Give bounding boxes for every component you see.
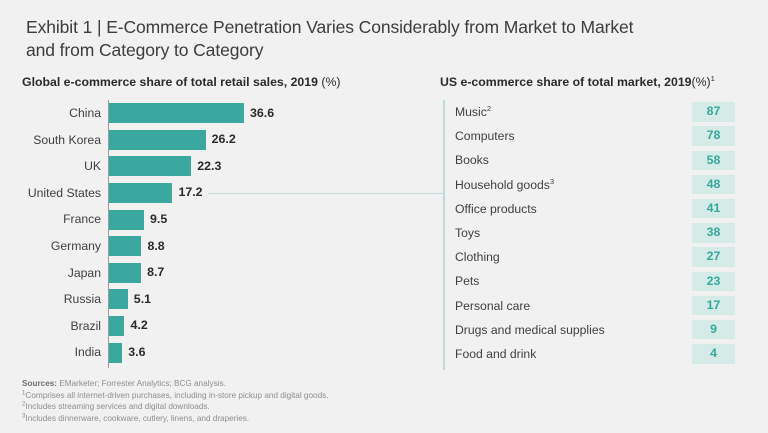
right-panel-subtitle-text: US e-commerce share of total market, 201…	[440, 75, 692, 89]
footnote-2-text: Includes streaming services and digital …	[25, 402, 209, 411]
us-category-share-list: Music287Computers78Books58Household good…	[444, 100, 744, 370]
bar-value-label: 8.8	[147, 236, 164, 257]
list-item: Drugs and medical supplies9	[444, 318, 744, 342]
bar-track	[109, 103, 244, 123]
bar-category-label: UK	[22, 153, 101, 180]
bar-category-label: South Korea	[22, 127, 101, 154]
exhibit-title: Exhibit 1 | E-Commerce Penetration Varie…	[26, 16, 738, 62]
right-panel-subtitle: US e-commerce share of total market, 201…	[440, 75, 715, 89]
left-panel-subtitle-text: Global e-commerce share of total retail …	[22, 75, 318, 89]
bar-fill	[109, 343, 122, 363]
bar-category-label: Germany	[22, 233, 101, 260]
list-item: Household goods348	[444, 173, 744, 197]
bar-value-label: 26.2	[212, 129, 236, 150]
category-label: Personal care	[455, 294, 530, 318]
category-label: Household goods3	[455, 173, 554, 197]
category-label: Drugs and medical supplies	[455, 318, 605, 342]
footnote-3-text: Includes dinnerware, cookware, cutlery, …	[25, 414, 249, 423]
footnote-3: 3Includes dinnerware, cookware, cutlery,…	[22, 413, 722, 425]
bar-category-label: United States	[22, 180, 101, 207]
list-item: Personal care17	[444, 294, 744, 318]
page-title-line-2: and from Category to Category	[26, 39, 738, 62]
category-label: Books	[455, 148, 489, 172]
category-label: Computers	[455, 124, 515, 148]
category-label: Office products	[455, 197, 537, 221]
bar-fill	[109, 210, 144, 230]
category-value-badge: 48	[692, 175, 735, 195]
footnote-sources-label: Sources:	[22, 379, 57, 388]
footnotes-block: Sources: EMarketer; Forrester Analytics;…	[22, 378, 722, 424]
bar-value-label: 3.6	[128, 342, 145, 363]
footnote-1-text: Comprises all internet-driven purchases,…	[25, 391, 328, 400]
bar-value-label: 9.5	[150, 209, 167, 230]
category-value-badge: 38	[692, 223, 735, 243]
bar-fill	[109, 183, 172, 203]
bar-category-label: Brazil	[22, 313, 101, 340]
page-title-line-1: Exhibit 1 | E-Commerce Penetration Varie…	[26, 16, 738, 39]
list-item: Office products41	[444, 197, 744, 221]
bar-row: Germany8.8	[22, 233, 422, 260]
category-value-badge: 41	[692, 199, 735, 219]
bar-track	[109, 263, 141, 283]
bar-track	[109, 289, 128, 309]
bar-track	[109, 210, 144, 230]
bar-value-label: 8.7	[147, 262, 164, 283]
bar-category-label: Japan	[22, 260, 101, 287]
category-footnote-ref: 2	[487, 104, 491, 113]
list-item: Clothing27	[444, 245, 744, 269]
bar-row: Brazil4.2	[22, 313, 422, 340]
category-value-badge: 17	[692, 296, 735, 316]
bar-track	[109, 316, 124, 336]
bar-row: Russia5.1	[22, 286, 422, 313]
bar-track	[109, 130, 206, 150]
bar-fill	[109, 156, 191, 176]
bar-fill	[109, 263, 141, 283]
right-panel-subtitle-footnote-ref: 1	[711, 74, 715, 83]
bar-track	[109, 183, 172, 203]
category-label: Food and drink	[455, 342, 536, 366]
category-value-badge: 87	[692, 102, 735, 122]
list-item: Computers78	[444, 124, 744, 148]
footnote-2: 2Includes streaming services and digital…	[22, 401, 722, 413]
list-item: Books58	[444, 148, 744, 172]
bar-value-label: 22.3	[197, 156, 221, 177]
list-item: Music287	[444, 100, 744, 124]
category-value-badge: 23	[692, 272, 735, 292]
bar-category-label: India	[22, 339, 101, 366]
bar-category-label: France	[22, 206, 101, 233]
bar-fill	[109, 316, 124, 336]
list-item: Food and drink4	[444, 342, 744, 366]
bar-row: France9.5	[22, 206, 422, 233]
list-item: Toys38	[444, 221, 744, 245]
bar-category-label: Russia	[22, 286, 101, 313]
bar-track	[109, 343, 122, 363]
bar-row: South Korea26.2	[22, 127, 422, 154]
bar-row: Japan8.7	[22, 260, 422, 287]
exhibit-canvas: Exhibit 1 | E-Commerce Penetration Varie…	[0, 0, 768, 433]
global-share-bar-chart: China36.6South Korea26.2UK22.3United Sta…	[22, 100, 422, 370]
left-panel-subtitle: Global e-commerce share of total retail …	[22, 75, 341, 89]
bar-category-label: China	[22, 100, 101, 127]
category-value-badge: 58	[692, 151, 735, 171]
category-label: Clothing	[455, 245, 500, 269]
footnote-1: 1Comprises all internet-driven purchases…	[22, 390, 722, 402]
bar-row: India3.6	[22, 339, 422, 366]
category-footnote-ref: 3	[550, 177, 554, 186]
bar-fill	[109, 130, 206, 150]
bar-fill	[109, 236, 141, 256]
bar-value-label: 5.1	[134, 289, 151, 310]
us-highlight-connector-line	[208, 193, 443, 194]
bar-value-label: 36.6	[250, 103, 274, 124]
footnote-sources: Sources: EMarketer; Forrester Analytics;…	[22, 378, 722, 390]
bar-fill	[109, 289, 128, 309]
footnote-sources-text: EMarketer; Forrester Analytics; BCG anal…	[59, 379, 226, 388]
category-label: Music2	[455, 100, 491, 124]
bar-track	[109, 156, 191, 176]
category-value-badge: 9	[692, 320, 735, 340]
bar-value-label: 4.2	[130, 315, 147, 336]
panel-bracket-line	[443, 100, 445, 370]
category-label: Pets	[455, 269, 479, 293]
list-item: Pets23	[444, 269, 744, 293]
left-panel-subtitle-unit: (%)	[321, 75, 340, 89]
category-value-badge: 27	[692, 247, 735, 267]
bar-row: China36.6	[22, 100, 422, 127]
bar-fill	[109, 103, 244, 123]
bar-track	[109, 236, 141, 256]
bar-row: UK22.3	[22, 153, 422, 180]
category-value-badge: 78	[692, 126, 735, 146]
category-label: Toys	[455, 221, 480, 245]
right-panel-subtitle-unit: (%)	[692, 75, 711, 89]
bar-value-label: 17.2	[178, 182, 202, 203]
category-value-badge: 4	[692, 344, 735, 364]
